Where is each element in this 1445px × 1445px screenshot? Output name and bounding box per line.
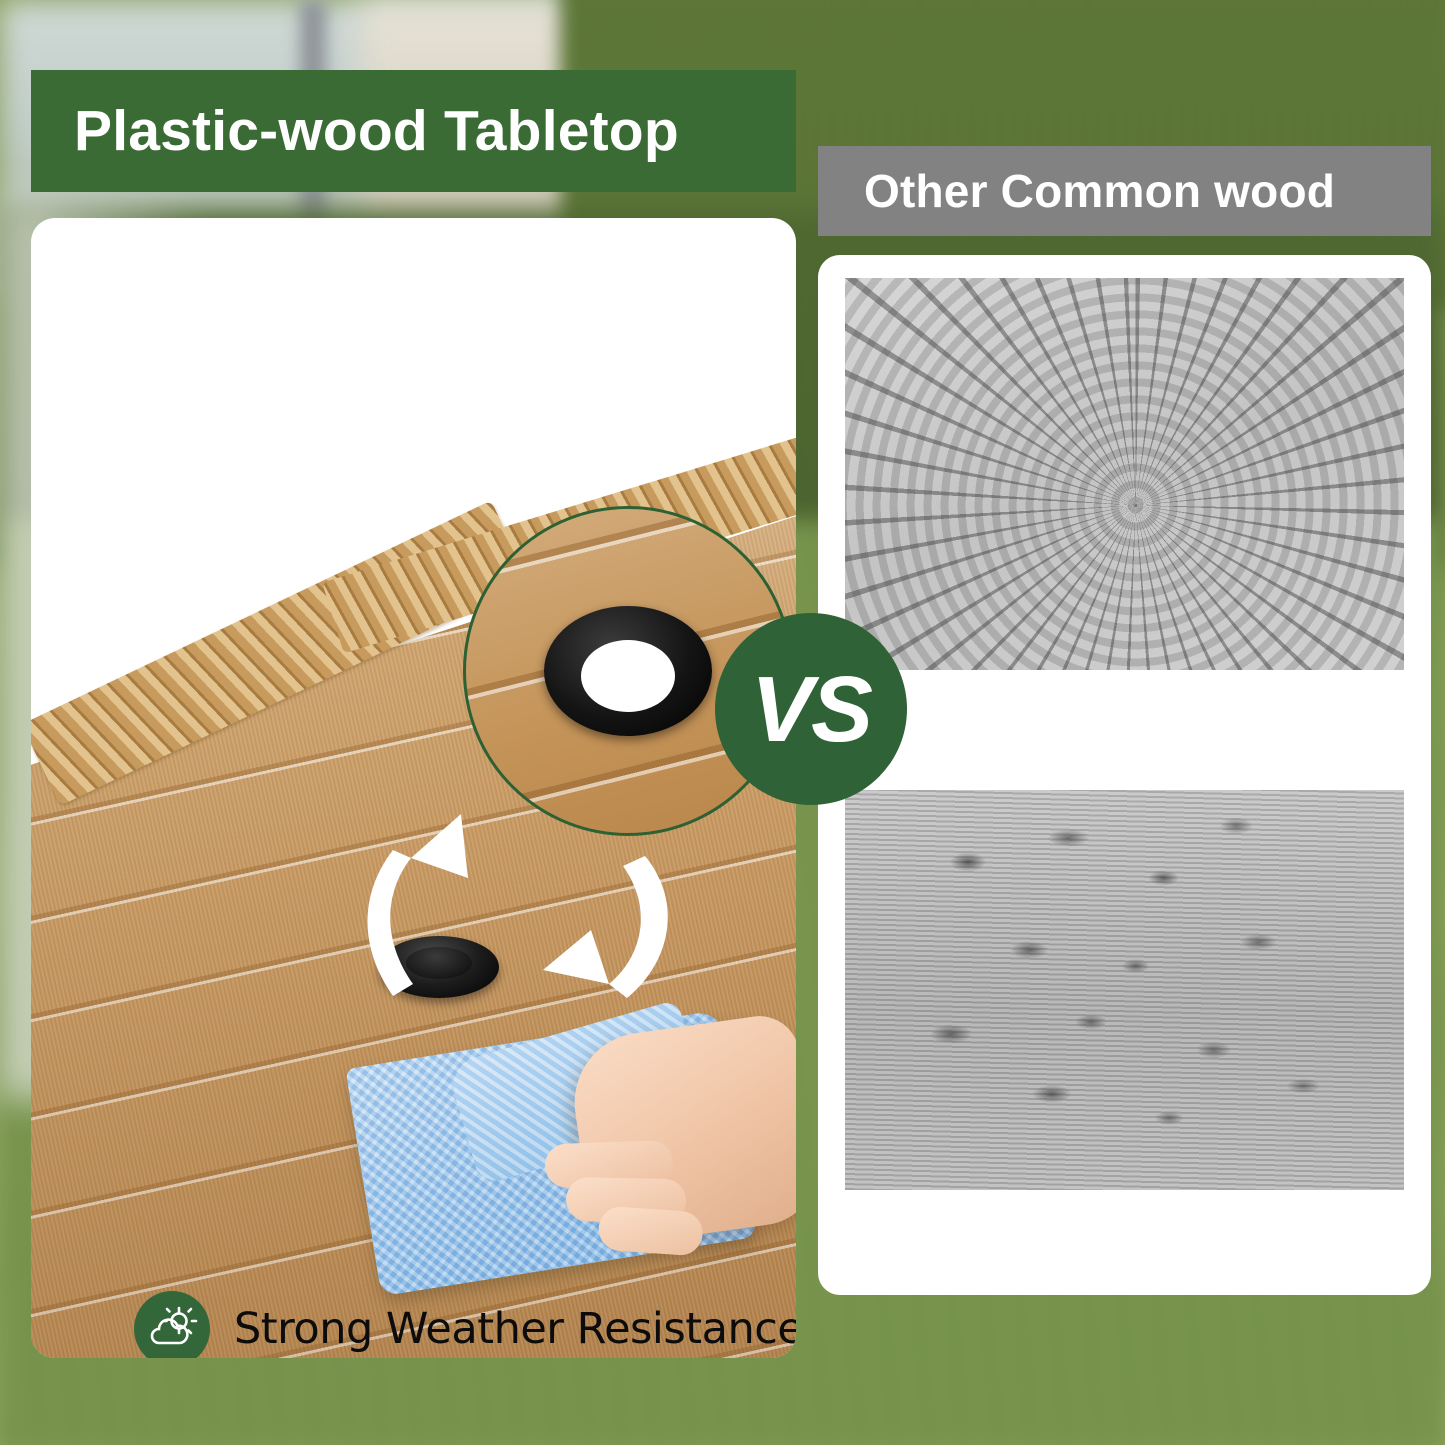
plastic-wood-panel: Strong Weather Resistance Low Maintenanc… [31, 218, 796, 1358]
other-common-wood-banner: Other Common wood [818, 146, 1431, 236]
vs-badge: VS [715, 613, 907, 805]
sun-cloud-icon [134, 1291, 210, 1359]
umbrella-hole-grommet-icon [544, 606, 712, 736]
other-common-wood-panel: Not durable Not waterproof [818, 255, 1431, 1295]
umbrella-hole-cap [379, 936, 499, 998]
moldy-wood-plank-photo [845, 790, 1404, 1190]
feature-list: Strong Weather Resistance Low Maintenanc… [134, 1282, 796, 1358]
other-common-wood-title: Other Common wood [864, 164, 1335, 218]
vs-label: VS [751, 656, 871, 763]
plastic-wood-tabletop-title: Plastic-wood Tabletop [74, 98, 679, 164]
plastic-wood-tabletop-banner: Plastic-wood Tabletop [31, 70, 796, 192]
finger [597, 1205, 704, 1256]
cracked-tree-rings-photo [845, 278, 1404, 670]
feature-item-weather-resistance: Strong Weather Resistance [134, 1282, 796, 1358]
feature-label: Strong Weather Resistance [234, 1304, 796, 1354]
hand-wiping [566, 1011, 796, 1249]
